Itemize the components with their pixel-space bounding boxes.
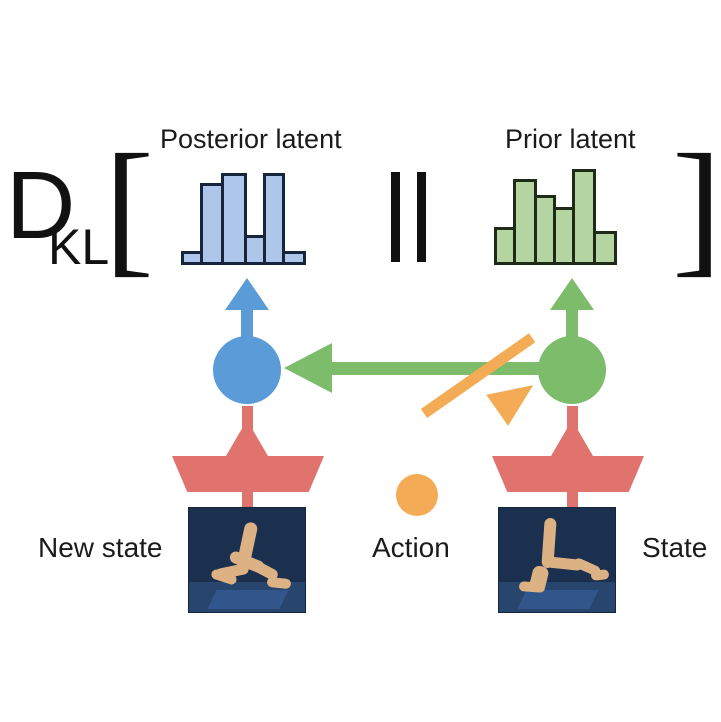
bracket-open: [ <box>104 132 154 282</box>
floor-plate-left <box>208 590 289 609</box>
action-node <box>396 474 438 516</box>
posterior-latent-histogram <box>184 165 320 265</box>
action-label: Action <box>372 533 450 563</box>
walker-shin-b-right <box>519 581 546 593</box>
kl-separator-bar-right <box>417 172 426 262</box>
prior-latent-title: Prior latent <box>505 124 636 154</box>
prior-latent-histogram <box>497 165 633 265</box>
floor-plate-right <box>518 590 599 609</box>
transition-arrow-head <box>284 343 332 393</box>
posterior-latent-title: Posterior latent <box>160 124 342 154</box>
encoder-trapezoid-left <box>172 456 324 492</box>
state-label: State <box>642 533 707 563</box>
encoder-arrow-head-left <box>226 420 268 456</box>
posterior-output-arrow-head <box>225 278 269 310</box>
histogram-bar <box>593 231 617 265</box>
encoder-trapezoid-right <box>492 456 644 492</box>
histogram-bar <box>282 251 306 265</box>
prior-output-arrow-head <box>550 278 594 310</box>
kl-divergence-diagram: D KL [ ] Posterior latent Prior latent <box>0 0 721 722</box>
new-state-label: New state <box>38 533 163 563</box>
posterior-latent-node <box>213 336 281 404</box>
encoder-arrow-head-right <box>551 420 593 456</box>
action-arrow-head <box>486 370 544 426</box>
walker-shin-a-right <box>591 569 610 581</box>
bracket-close: ] <box>672 132 721 282</box>
kl-separator-bar-left <box>391 172 400 262</box>
dkl-subscript: KL <box>48 222 109 272</box>
state-image <box>499 508 615 612</box>
new-state-image <box>189 508 305 612</box>
